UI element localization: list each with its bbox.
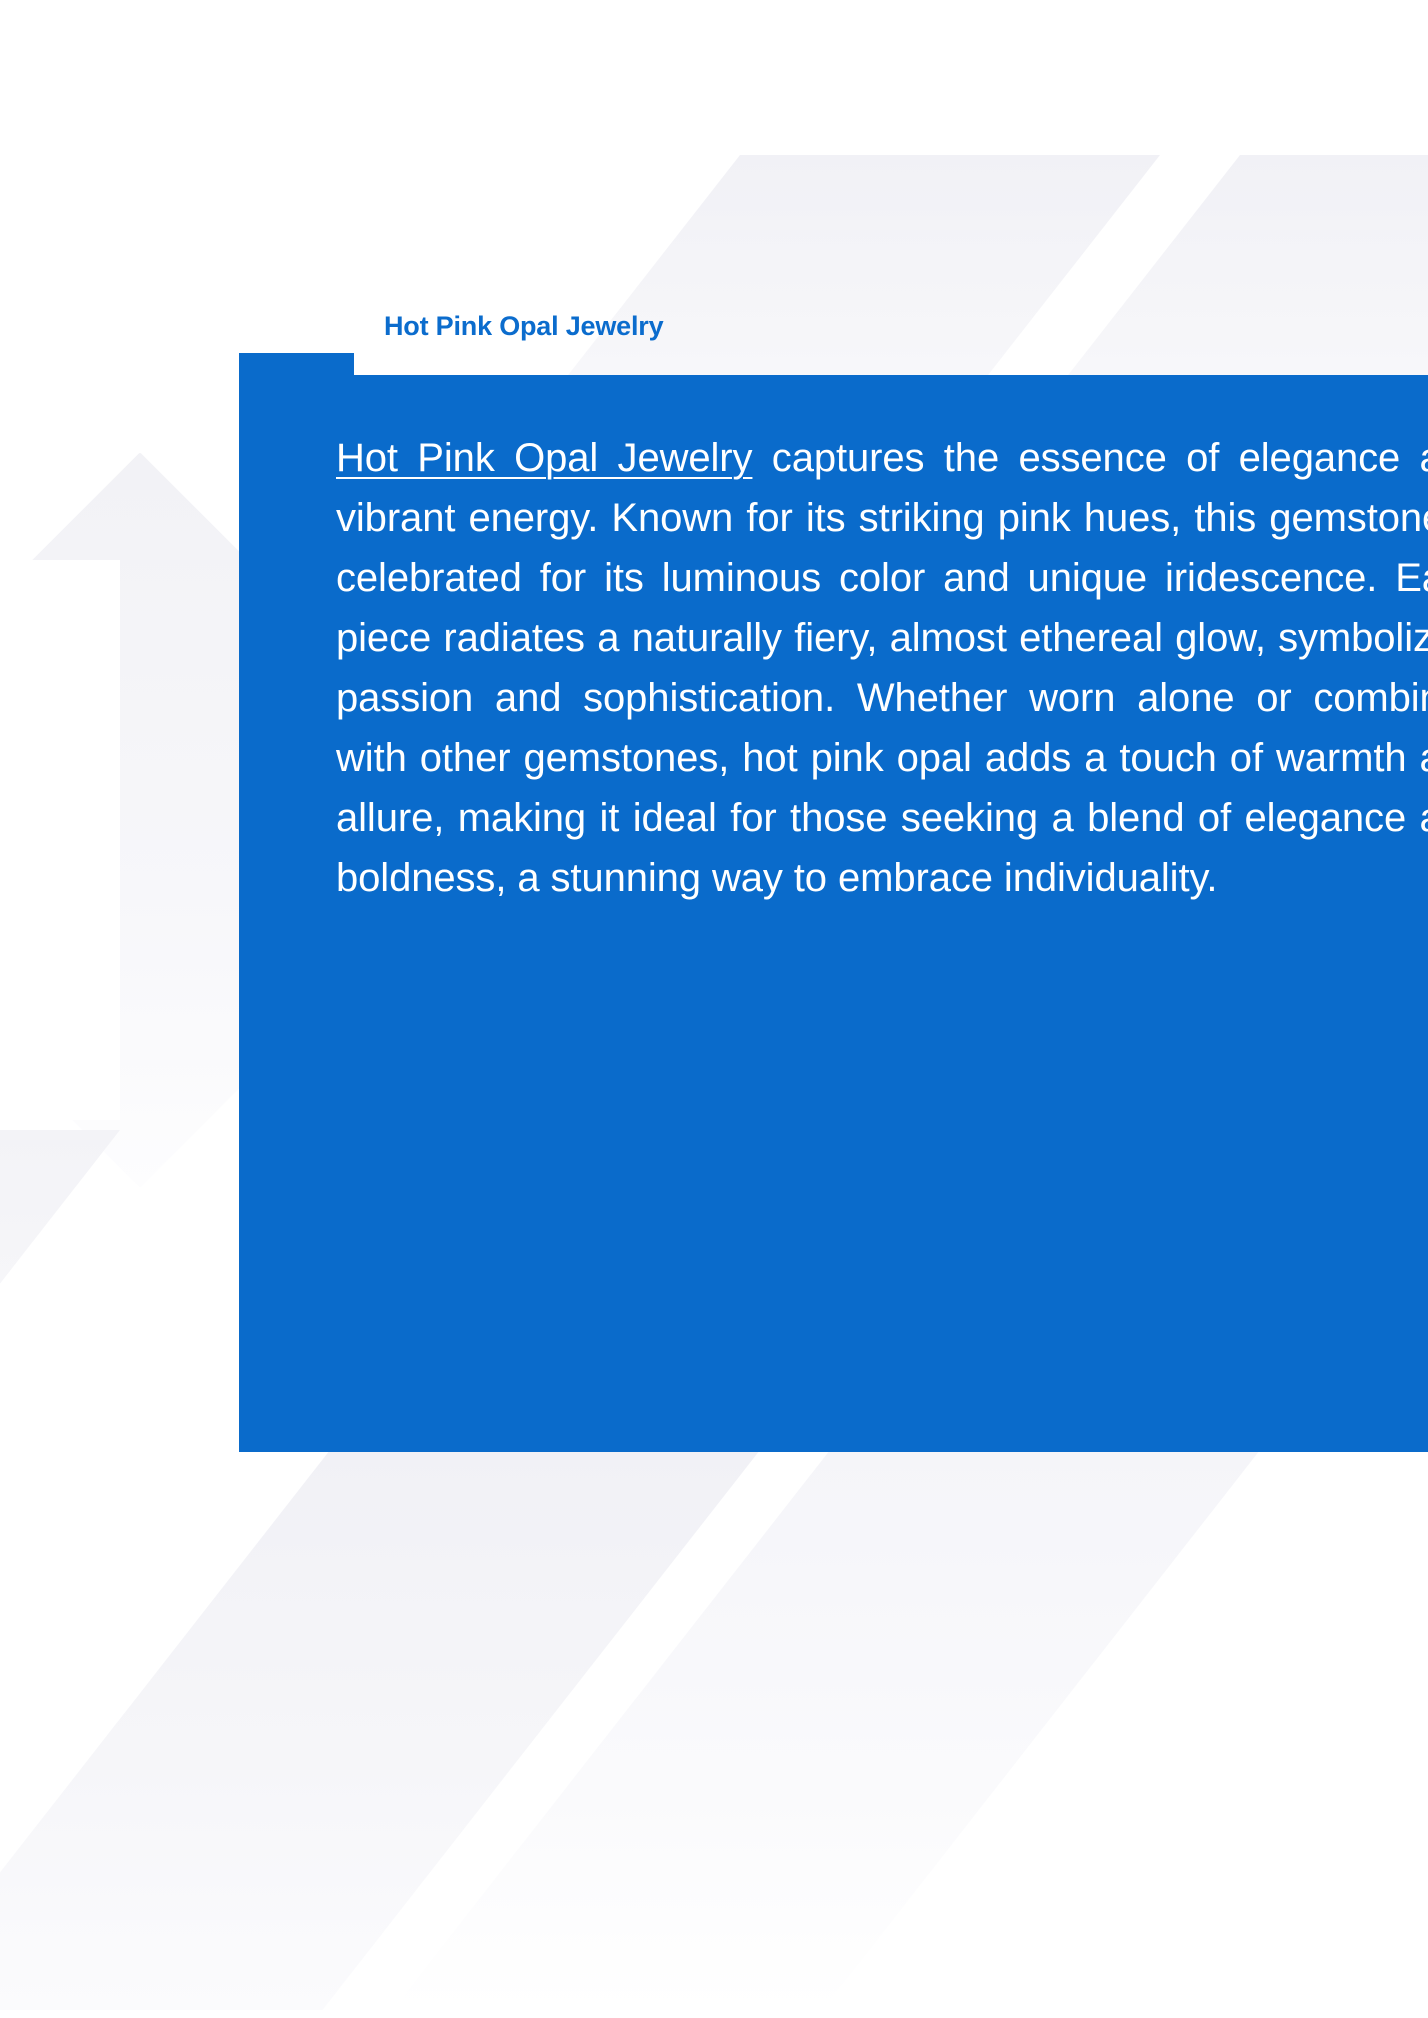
article-body-text: Hot Pink Opal Jewelry captures the essen… [336, 428, 1428, 908]
page-title: Hot Pink Opal Jewelry [384, 311, 663, 342]
page-root: Hot Pink Opal Jewelry Hot Pink Opal Jewe… [0, 0, 1428, 2018]
diagonal-band-shape [0, 1450, 760, 2010]
article-lead-link[interactable]: Hot Pink Opal Jewelry [336, 436, 752, 480]
diagonal-band-shape [0, 1130, 120, 1460]
diagonal-band-shape [392, 1450, 1260, 2010]
card-corner-tab [239, 353, 354, 377]
article-paragraph: captures the essence of elegance and vib… [336, 436, 1428, 900]
shape-mask [0, 560, 120, 1120]
article-card: Hot Pink Opal Jewelry captures the essen… [239, 375, 1428, 1452]
